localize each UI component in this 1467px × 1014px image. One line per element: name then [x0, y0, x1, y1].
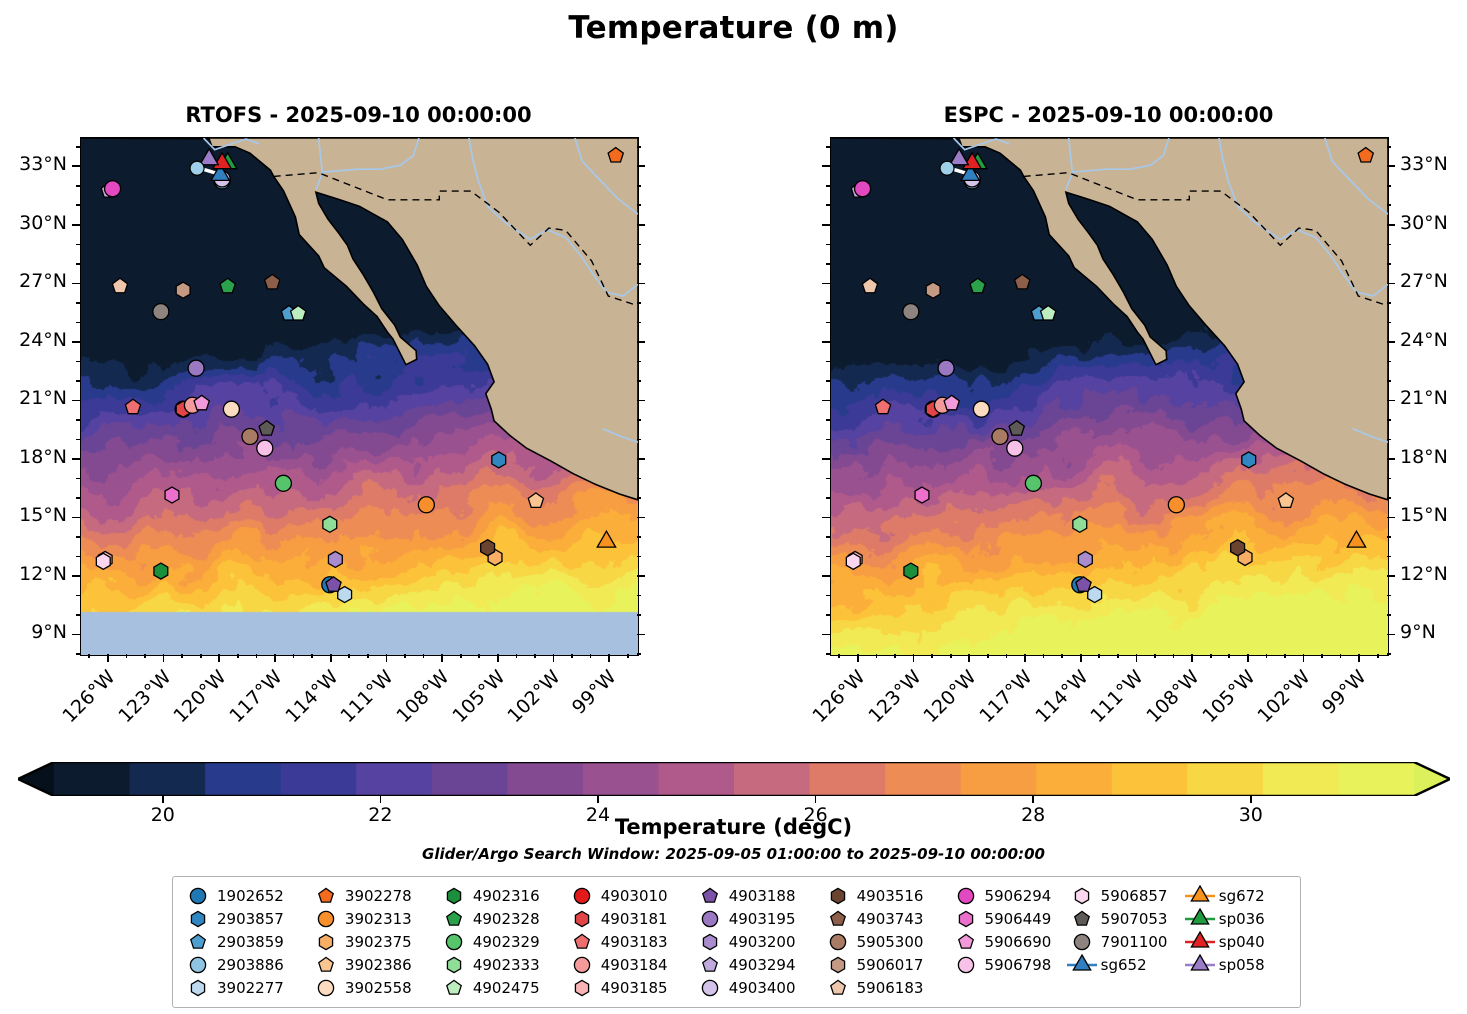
xtick — [534, 654, 536, 658]
legend-item-4903188[interactable]: 4903188 — [693, 884, 821, 907]
ytick — [1387, 634, 1395, 636]
legend-label: 4903181 — [599, 910, 668, 928]
xtick — [274, 654, 276, 662]
map-marker-3902277[interactable] — [338, 587, 352, 603]
ytick — [822, 634, 830, 636]
map-panel-rtofs[interactable] — [80, 137, 639, 656]
map-marker-4903200[interactable] — [328, 551, 342, 567]
legend-item-4903010[interactable]: 4903010 — [565, 884, 693, 907]
legend-item-5906449[interactable]: 5906449 — [949, 907, 1065, 930]
ytick — [826, 380, 830, 382]
legend-item-5906294[interactable]: 5906294 — [949, 884, 1065, 907]
xtick — [1043, 654, 1045, 658]
ytick — [1387, 204, 1391, 206]
ytick — [76, 556, 80, 558]
map-marker-5906857[interactable] — [846, 553, 860, 569]
ytick — [1387, 575, 1395, 577]
legend-item-4903516[interactable]: 4903516 — [821, 884, 949, 907]
map-marker-4902316[interactable] — [154, 563, 168, 579]
map-marker-5906857[interactable] — [96, 553, 110, 569]
legend-label: 4903183 — [599, 933, 668, 951]
legend-item-4903195[interactable]: 4903195 — [693, 907, 821, 930]
ytick — [637, 400, 645, 402]
legend-label: 4902475 — [471, 979, 540, 997]
ytick-label: 24°N — [0, 329, 67, 351]
ytick — [1387, 517, 1395, 519]
ytick — [637, 361, 641, 363]
legend-column: sg672sp036sp040sp058 — [1183, 884, 1292, 999]
legend-item-4902475[interactable]: 4902475 — [437, 976, 565, 999]
ytick — [1387, 536, 1391, 538]
legend-item-5906798[interactable]: 5906798 — [949, 953, 1065, 976]
colorbar-gradient[interactable] — [18, 762, 1450, 796]
map-marker-4902328[interactable] — [970, 278, 985, 292]
map-marker-4902328[interactable] — [220, 278, 235, 292]
legend-item-7901100[interactable]: 7901100 — [1065, 930, 1183, 953]
legend-label: 1902652 — [215, 887, 284, 905]
ytick — [1387, 614, 1391, 616]
legend-item-sp040[interactable]: sp040 — [1183, 930, 1292, 953]
ytick — [637, 458, 645, 460]
map-marker-5907053[interactable] — [259, 421, 274, 435]
xtick — [330, 654, 332, 662]
legend-item-3902278[interactable]: 3902278 — [309, 884, 437, 907]
xtick — [478, 654, 480, 658]
ytick — [1387, 478, 1391, 480]
legend-column: 19026522903857290385929038863902277 — [181, 884, 309, 999]
map-marker-3902386[interactable] — [528, 493, 543, 507]
map-marker-5905300[interactable] — [992, 428, 1008, 444]
legend-marker-2903859 — [181, 930, 215, 953]
legend-item-3902375[interactable]: 3902375 — [309, 930, 437, 953]
ytick — [826, 361, 830, 363]
ytick — [822, 517, 830, 519]
ytick-label: 15°N — [1400, 504, 1448, 526]
ytick — [1387, 653, 1391, 655]
map-marker-4903183[interactable] — [875, 399, 890, 413]
map-marker-7901100[interactable] — [903, 304, 919, 320]
ytick — [1387, 263, 1391, 265]
ytick — [1387, 458, 1395, 460]
ytick — [637, 536, 641, 538]
ytick — [822, 224, 830, 226]
ytick — [637, 634, 645, 636]
ytick — [637, 653, 641, 655]
legend-marker-4902328 — [437, 907, 471, 930]
xtick — [1006, 654, 1008, 658]
ytick — [72, 517, 80, 519]
xtick — [516, 654, 518, 658]
map-marker-4903195[interactable] — [188, 360, 204, 376]
legend-item-4903184[interactable]: 4903184 — [565, 953, 693, 976]
legend-column: 49030104903181490318349031844903185 — [565, 884, 693, 999]
legend-item-5907053[interactable]: 5907053 — [1065, 907, 1183, 930]
legend-item-2903857[interactable]: 2903857 — [181, 907, 309, 930]
legend-label: 4903195 — [727, 910, 796, 928]
ytick — [76, 263, 80, 265]
legend-label: 2903857 — [215, 910, 284, 928]
legend-marker-3902313 — [309, 907, 343, 930]
ytick — [76, 478, 80, 480]
map-marker-sp058[interactable] — [950, 149, 968, 165]
ytick — [76, 595, 80, 597]
legend-item-5906183[interactable]: 5906183 — [821, 976, 949, 999]
ytick — [72, 165, 80, 167]
legend-marker-4903010 — [565, 884, 599, 907]
ytick — [822, 400, 830, 402]
map-marker-4902329[interactable] — [275, 475, 291, 491]
legend-item-sg652[interactable]: sg652 — [1065, 953, 1183, 976]
legend-item-sp058[interactable]: sp058 — [1183, 953, 1292, 976]
ytick — [1387, 185, 1391, 187]
legend-label: sp036 — [1217, 910, 1265, 928]
legend-marker-4903183 — [565, 930, 599, 953]
map-marker-5906798[interactable] — [257, 440, 273, 456]
map-marker-4902316[interactable] — [904, 563, 918, 579]
legend-label: 3902278 — [343, 887, 412, 905]
map-marker-4902333[interactable] — [323, 516, 337, 532]
ytick — [826, 263, 830, 265]
ytick — [637, 439, 641, 441]
map-marker-sp058[interactable] — [200, 149, 218, 165]
legend-item-4902316[interactable]: 4902316 — [437, 884, 565, 907]
xtick — [1061, 654, 1063, 658]
map-marker-5905300[interactable] — [242, 428, 258, 444]
xtick — [1080, 654, 1082, 662]
xtick — [913, 654, 915, 662]
legend-marker-4903195 — [693, 907, 727, 930]
map-marker-4903200[interactable] — [1078, 551, 1092, 567]
ytick — [826, 322, 830, 324]
map-marker-3902558[interactable] — [223, 401, 239, 417]
xtick — [386, 654, 388, 662]
legend-item-sg672[interactable]: sg672 — [1183, 884, 1292, 907]
map-marker-5906294[interactable] — [105, 181, 121, 197]
ytick-label: 15°N — [0, 504, 67, 526]
colorbar-tick — [380, 796, 382, 803]
legend-item-4903743[interactable]: 4903743 — [821, 907, 949, 930]
map-marker-5906449[interactable] — [165, 487, 179, 503]
legend-marker-4902329 — [437, 930, 471, 953]
map-panel-espc[interactable] — [830, 137, 1389, 656]
xtick — [1340, 654, 1342, 658]
ytick-label: 18°N — [1400, 446, 1448, 468]
legend-label: 5907053 — [1099, 910, 1168, 928]
map-marker-sg672[interactable] — [597, 531, 615, 547]
ytick — [1387, 322, 1391, 324]
map-marker-5906798[interactable] — [1007, 440, 1023, 456]
legend-marker-5906294 — [949, 884, 983, 907]
ytick — [1387, 380, 1391, 382]
map-marker-4902329[interactable] — [1025, 475, 1041, 491]
legend-marker-5906017 — [821, 953, 855, 976]
ytick — [1387, 400, 1395, 402]
ytick — [72, 575, 80, 577]
xtick — [838, 654, 840, 658]
xtick — [950, 654, 952, 658]
legend-item-4902328[interactable]: 4902328 — [437, 907, 565, 930]
xtick — [1024, 654, 1026, 662]
ytick — [637, 575, 645, 577]
legend-label: 4903188 — [727, 887, 796, 905]
xtick — [1284, 654, 1286, 658]
ytick — [1387, 146, 1391, 148]
legend-item-4902329[interactable]: 4902329 — [437, 930, 565, 953]
xtick — [163, 654, 165, 662]
map-marker-sg652-head[interactable] — [940, 161, 954, 175]
panel-title-espc: ESPC - 2025-09-10 00:00:00 — [830, 103, 1387, 127]
ytick — [637, 283, 645, 285]
legend-label: 5906690 — [983, 933, 1052, 951]
ytick — [1387, 283, 1395, 285]
ytick — [637, 419, 641, 421]
map-marker-5906690[interactable] — [944, 395, 959, 409]
legend-label: 4903294 — [727, 956, 796, 974]
map-marker-4903516[interactable] — [481, 540, 495, 556]
ytick — [826, 497, 830, 499]
ytick — [76, 653, 80, 655]
xtick — [968, 654, 970, 662]
map-marker-5906183[interactable] — [112, 278, 127, 292]
legend-label: 5906183 — [855, 979, 924, 997]
legend-marker-4903188 — [693, 884, 727, 907]
map-marker-5906449[interactable] — [915, 487, 929, 503]
ytick — [637, 302, 641, 304]
ytick-label: 30°N — [0, 212, 67, 234]
ytick — [1387, 341, 1395, 343]
ytick — [826, 439, 830, 441]
ytick — [637, 146, 641, 148]
ytick — [637, 224, 645, 226]
legend-item-4902333[interactable]: 4902333 — [437, 953, 565, 976]
ytick — [76, 614, 80, 616]
xtick — [88, 654, 90, 658]
xtick — [1117, 654, 1119, 658]
legend-marker-4903181 — [565, 907, 599, 930]
ytick — [826, 419, 830, 421]
xtick — [1266, 654, 1268, 658]
ytick — [76, 419, 80, 421]
ytick — [76, 536, 80, 538]
map-marker-7901100[interactable] — [153, 304, 169, 320]
legend-item-3902558[interactable]: 3902558 — [309, 976, 437, 999]
ytick — [826, 204, 830, 206]
ytick-label: 21°N — [1400, 387, 1448, 409]
legend-label: 4903400 — [727, 979, 796, 997]
xtick — [627, 654, 629, 658]
xtick — [553, 654, 555, 662]
ytick-label: 27°N — [0, 270, 67, 292]
legend-label: 7901100 — [1099, 933, 1168, 951]
colorbar-tick — [1250, 796, 1252, 803]
ytick — [826, 185, 830, 187]
map-marker-4903743[interactable] — [1015, 274, 1030, 288]
xtick — [894, 654, 896, 658]
xtick — [423, 654, 425, 658]
map-marker-sg652-head[interactable] — [190, 161, 204, 175]
ytick — [637, 556, 641, 558]
legend-item-4903181[interactable]: 4903181 — [565, 907, 693, 930]
map-marker-2903857[interactable] — [1242, 452, 1256, 468]
ytick-label: 33°N — [0, 153, 67, 175]
ytick-label: 21°N — [0, 387, 67, 409]
legend-item-4903200[interactable]: 4903200 — [693, 930, 821, 953]
legend-label: 2903886 — [215, 956, 284, 974]
legend-label: 4902329 — [471, 933, 540, 951]
legend-item-5906857[interactable]: 5906857 — [1065, 884, 1183, 907]
ytick — [822, 575, 830, 577]
map-marker-3902313[interactable] — [418, 497, 434, 513]
legend-label: 4903200 — [727, 933, 796, 951]
ytick-label: 24°N — [1400, 329, 1448, 351]
legend-label: 4903185 — [599, 979, 668, 997]
ytick — [76, 380, 80, 382]
xtick — [404, 654, 406, 658]
xtick — [931, 654, 933, 658]
ytick — [1387, 361, 1391, 363]
ytick — [1387, 224, 1395, 226]
legend-item-sp036[interactable]: sp036 — [1183, 907, 1292, 930]
map-marker-3902313[interactable] — [1168, 497, 1184, 513]
map-marker-3902558[interactable] — [973, 401, 989, 417]
legend-label: 4902328 — [471, 910, 540, 928]
map-marker-4903743[interactable] — [265, 274, 280, 288]
legend-item-5906690[interactable]: 5906690 — [949, 930, 1065, 953]
map-marker-4902333[interactable] — [1073, 516, 1087, 532]
legend-item-3902277[interactable]: 3902277 — [181, 976, 309, 999]
legend-marker-sg652 — [1065, 953, 1099, 976]
colorbar[interactable]: 202224262830 — [18, 762, 1450, 796]
xtick — [1247, 654, 1249, 662]
ytick — [637, 497, 641, 499]
xtick — [608, 654, 610, 662]
legend-marker-5906449 — [949, 907, 983, 930]
legend-item-5905300[interactable]: 5905300 — [821, 930, 949, 953]
ytick — [76, 497, 80, 499]
ytick — [826, 556, 830, 558]
legend-label: 4902316 — [471, 887, 540, 905]
legend-marker-5906690 — [949, 930, 983, 953]
ytick — [637, 204, 641, 206]
ytick — [826, 146, 830, 148]
colorbar-tick — [597, 796, 599, 803]
map-marker-5906183[interactable] — [862, 278, 877, 292]
map-marker-5906690[interactable] — [194, 395, 209, 409]
figure-title: Temperature (0 m) — [0, 10, 1467, 46]
legend-label: 3902375 — [343, 933, 412, 951]
xtick — [497, 654, 499, 662]
legend-item-3902313[interactable]: 3902313 — [309, 907, 437, 930]
legend-column: 49031884903195490320049032944903400 — [693, 884, 821, 999]
map-marker-4903183[interactable] — [125, 399, 140, 413]
legend-item-4903185[interactable]: 4903185 — [565, 976, 693, 999]
ytick — [1387, 439, 1391, 441]
ytick — [72, 400, 80, 402]
ytick-label: 18°N — [0, 446, 67, 468]
map-marker-sg672[interactable] — [1347, 531, 1365, 547]
ytick-label: 12°N — [0, 563, 67, 585]
xtick — [126, 654, 128, 658]
legend-item-4903400[interactable]: 4903400 — [693, 976, 821, 999]
map-marker-4903195[interactable] — [938, 360, 954, 376]
ytick — [1387, 165, 1395, 167]
xtick — [441, 654, 443, 662]
xtick — [1228, 654, 1230, 658]
map-marker-5906294[interactable] — [855, 181, 871, 197]
ytick — [72, 224, 80, 226]
map-marker-5906017[interactable] — [926, 282, 940, 298]
legend-marker-4903184 — [565, 953, 599, 976]
legend-marker-3902375 — [309, 930, 343, 953]
legend-label: 4903010 — [599, 887, 668, 905]
ytick — [76, 204, 80, 206]
legend-label: 5906798 — [983, 956, 1052, 974]
xtick — [1154, 654, 1156, 658]
legend-label: 3902386 — [343, 956, 412, 974]
xtick — [218, 654, 220, 662]
legend-marker-2903886 — [181, 953, 215, 976]
legend-marker-3902277 — [181, 976, 215, 999]
xtick — [1136, 654, 1138, 662]
ytick — [1387, 595, 1391, 597]
legend-item-4903183[interactable]: 4903183 — [565, 930, 693, 953]
xtick — [857, 654, 859, 662]
map-marker-4903516[interactable] — [1231, 540, 1245, 556]
legend-item-4903294[interactable]: 4903294 — [693, 953, 821, 976]
xtick — [1377, 654, 1379, 658]
ytick — [1387, 244, 1391, 246]
ytick-label: 9°N — [1400, 621, 1436, 643]
search-window-caption: Glider/Argo Search Window: 2025-09-05 01… — [0, 845, 1467, 863]
legend-item-5906017[interactable]: 5906017 — [821, 953, 949, 976]
ytick — [826, 536, 830, 538]
map-marker-5907053[interactable] — [1009, 421, 1024, 435]
legend-label: 5906017 — [855, 956, 924, 974]
legend-marker-sp040 — [1183, 930, 1217, 953]
ytick — [76, 322, 80, 324]
xtick — [1098, 654, 1100, 658]
ytick-label: 33°N — [1400, 153, 1448, 175]
legend-marker-7901100 — [1065, 930, 1099, 953]
legend-item-1902652[interactable]: 1902652 — [181, 884, 309, 907]
xtick — [1210, 654, 1212, 658]
legend-item-2903859[interactable]: 2903859 — [181, 930, 309, 953]
legend-item-3902386[interactable]: 3902386 — [309, 953, 437, 976]
legend-label: 5905300 — [855, 933, 924, 951]
map-marker-2903857[interactable] — [492, 452, 506, 468]
map-marker-3902386[interactable] — [1278, 493, 1293, 507]
ytick-label: 27°N — [1400, 270, 1448, 292]
ytick-label: 9°N — [0, 621, 67, 643]
xtick — [200, 654, 202, 658]
ytick — [637, 614, 641, 616]
xtick — [876, 654, 878, 658]
legend-column: 49035164903743590530059060175906183 — [821, 884, 949, 999]
ytick — [637, 244, 641, 246]
xtick — [590, 654, 592, 658]
ytick — [1387, 419, 1391, 421]
ytick — [822, 165, 830, 167]
legend-marker-4903743 — [821, 907, 855, 930]
legend-item-2903886[interactable]: 2903886 — [181, 953, 309, 976]
legend-marker-3902558 — [309, 976, 343, 999]
legend-marker-5907053 — [1065, 907, 1099, 930]
map-marker-5906017[interactable] — [176, 282, 190, 298]
map-marker-3902277[interactable] — [1088, 587, 1102, 603]
legend-column: 39022783902313390237539023863902558 — [309, 884, 437, 999]
legend-label: 3902558 — [343, 979, 412, 997]
platform-legend[interactable]: 1902652290385729038592903886390227739022… — [172, 876, 1301, 1008]
